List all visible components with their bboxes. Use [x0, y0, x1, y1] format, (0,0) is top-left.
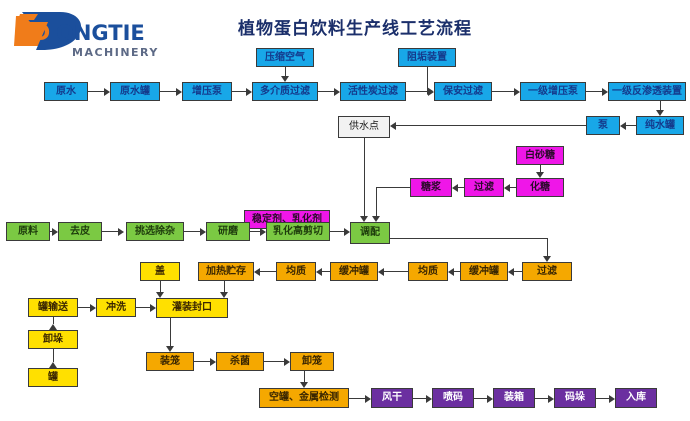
flow-node-n40: 空罐、金属检测 — [259, 388, 349, 408]
flow-node-n33: 冲洗 — [96, 298, 136, 317]
flow-node-label: 加热贮存 — [206, 267, 246, 277]
flow-node-label: 灌装封口 — [172, 303, 212, 313]
flow-node-label: 罐 — [48, 373, 58, 383]
flow-node-n37: 装笼 — [146, 352, 194, 371]
flow-node-label: 均质 — [286, 267, 306, 277]
flow-node-label: 一级增压泵 — [528, 87, 578, 97]
flow-node-label: 化糖 — [530, 183, 550, 193]
flow-node-label: 卸垛 — [43, 335, 63, 345]
flow-node-label: 装箱 — [504, 393, 524, 403]
flow-node-n41: 风干 — [371, 388, 413, 408]
flow-node-n09: 一级增压泵 — [520, 82, 586, 101]
flow-node-n34: 灌装封口 — [156, 298, 228, 318]
flow-node-label: 白砂糖 — [525, 151, 555, 161]
flow-node-label: 均质 — [418, 267, 438, 277]
flow-node-n02: 阻垢装置 — [398, 48, 456, 67]
flow-node-n38: 杀菌 — [216, 352, 264, 371]
flow-node-n39: 卸笼 — [290, 352, 334, 371]
flow-node-n27: 均质 — [408, 262, 448, 281]
flow-node-n03: 原水 — [44, 82, 88, 101]
flow-node-label: 多介质过滤 — [260, 87, 310, 97]
flow-node-n14: 白砂糖 — [516, 146, 564, 165]
flow-node-label: 一级反渗透装置 — [612, 87, 682, 97]
flow-node-n13: 供水点 — [338, 116, 390, 138]
flow-node-label: 乳化高剪切 — [273, 227, 323, 237]
flow-node-n17: 糖浆 — [410, 178, 452, 197]
flow-node-label: 保安过滤 — [443, 87, 483, 97]
flow-node-label: 原水罐 — [120, 87, 150, 97]
flow-node-label: 盖 — [155, 267, 165, 277]
svg-text:MACHINERY: MACHINERY — [72, 46, 159, 59]
page-title: 植物蛋白饮料生产线工艺流程 — [205, 14, 505, 39]
flow-node-n31: 盖 — [140, 262, 180, 281]
flow-node-label: 过滤 — [474, 183, 494, 193]
flow-node-label: 码垛 — [565, 393, 585, 403]
flow-node-label: 研磨 — [218, 227, 238, 237]
flow-node-label: 装笼 — [160, 357, 180, 367]
flow-node-n20: 去皮 — [58, 222, 102, 241]
flow-node-n32: 罐输送 — [28, 298, 78, 317]
flow-node-n26: 缓冲罐 — [460, 262, 508, 281]
svg-text:MACHINERY: MACHINERY — [72, 60, 159, 62]
flow-node-label: 原料 — [18, 227, 38, 237]
flow-node-n44: 码垛 — [554, 388, 596, 408]
flow-node-label: 挑选除杂 — [135, 227, 175, 237]
flow-node-label: 杀菌 — [230, 357, 250, 367]
flow-node-n16: 过滤 — [464, 178, 504, 197]
flow-node-n45: 入库 — [615, 388, 657, 408]
flow-node-label: 阻垢装置 — [407, 53, 447, 63]
flow-node-n01: 压缩空气 — [256, 48, 314, 67]
flow-node-n36: 罐 — [28, 368, 78, 387]
flow-node-n12: 泵 — [586, 116, 620, 135]
flow-node-n08: 保安过滤 — [434, 82, 492, 101]
logo-mark-icon: D ONGTIE MACHINERY MACHINERY — [8, 6, 208, 62]
flow-node-n43: 装箱 — [493, 388, 535, 408]
flow-node-label: 增压泵 — [192, 87, 222, 97]
flow-node-n24: 调配 — [350, 222, 390, 244]
flow-node-label: 原水 — [56, 87, 76, 97]
flow-node-n19: 原料 — [6, 222, 50, 241]
flow-node-n23: 乳化高剪切 — [266, 222, 330, 241]
flow-node-n25: 过滤 — [522, 262, 572, 281]
flow-node-label: 调配 — [360, 228, 380, 238]
flow-node-label: 压缩空气 — [265, 53, 305, 63]
flow-node-n22: 研磨 — [206, 222, 250, 241]
flow-node-label: 罐输送 — [38, 303, 68, 313]
svg-text:D: D — [32, 21, 50, 46]
flow-node-label: 糖浆 — [421, 183, 441, 193]
flow-node-label: 活性炭过滤 — [348, 87, 398, 97]
flow-node-label: 供水点 — [349, 122, 379, 132]
flow-node-label: 入库 — [626, 393, 646, 403]
flow-node-label: 去皮 — [70, 227, 90, 237]
flow-node-n42: 喷码 — [432, 388, 474, 408]
flow-node-n04: 原水罐 — [110, 82, 160, 101]
flow-node-n28: 缓冲罐 — [330, 262, 378, 281]
flow-node-label: 泵 — [598, 121, 608, 131]
flow-node-label: 过滤 — [537, 267, 557, 277]
flow-node-label: 冲洗 — [106, 303, 126, 313]
flow-node-n06: 多介质过滤 — [252, 82, 318, 101]
flow-node-n11: 纯水罐 — [636, 116, 684, 135]
flow-node-n15: 化糖 — [516, 178, 564, 197]
company-logo: D ONGTIE MACHINERY MACHINERY — [8, 6, 208, 62]
flow-node-n29: 均质 — [276, 262, 316, 281]
flow-node-label: 风干 — [382, 393, 402, 403]
flow-node-n07: 活性炭过滤 — [340, 82, 406, 101]
flowchart-canvas: D ONGTIE MACHINERY MACHINERY 植物蛋白饮料生产线工艺… — [0, 0, 690, 421]
flow-node-label: 喷码 — [443, 393, 463, 403]
flow-node-n30: 加热贮存 — [198, 262, 254, 281]
flow-node-label: 空罐、金属检测 — [269, 393, 339, 403]
flow-node-label: 纯水罐 — [645, 121, 675, 131]
flow-node-n35: 卸垛 — [28, 330, 78, 349]
flow-node-n21: 挑选除杂 — [126, 222, 184, 241]
svg-text:ONGTIE: ONGTIE — [56, 21, 145, 45]
flow-node-label: 卸笼 — [302, 357, 322, 367]
flow-node-label: 缓冲罐 — [339, 267, 369, 277]
flow-node-label: 缓冲罐 — [469, 267, 499, 277]
flow-node-n05: 增压泵 — [182, 82, 232, 101]
flow-node-n10: 一级反渗透装置 — [608, 82, 686, 101]
